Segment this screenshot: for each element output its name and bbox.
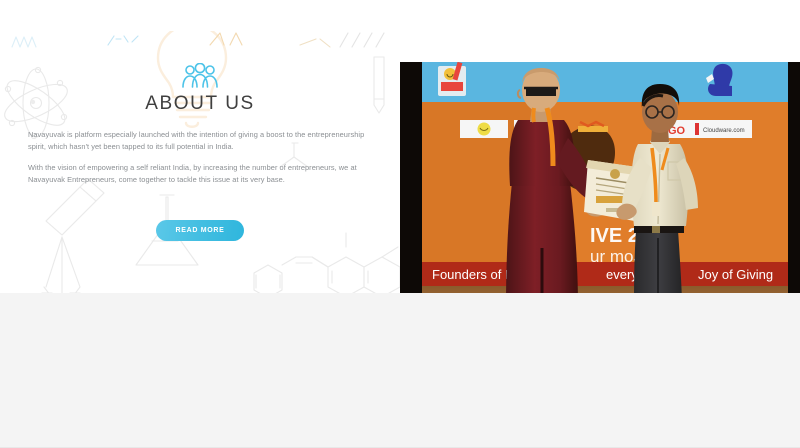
about-paragraph-2: With the vision of empowering a self rel… [28,162,368,185]
page-title: ABOUT US [0,93,400,115]
svg-text:Cloudware.com: Cloudware.com [703,128,745,134]
about-body: Navayuvak is platform especially launche… [28,129,368,195]
award-ceremony-photo[interactable]: GO Cloudware.com IVE 201 ur moJ Founders [400,62,800,293]
svg-text:Joy of Giving: Joy of Giving [698,267,773,282]
about-paragraph-1: Navayuvak is platform especially launche… [28,129,368,152]
top-white-strip [0,0,800,31]
page-root: ABOUT US Navayuvak is platform especiall… [0,0,800,448]
read-more-wrapper: READ MORE [0,219,400,241]
read-more-button[interactable]: READ MORE [156,220,243,241]
group-people-icon [181,63,219,89]
svg-text:every: every [606,267,638,282]
partners-strip: ABCDE GIRLPRENEURSHIP [0,293,800,448]
about-left-column: ABOUT US Navayuvak is platform especiall… [0,31,400,293]
about-us-section: ABOUT US Navayuvak is platform especiall… [0,31,800,293]
